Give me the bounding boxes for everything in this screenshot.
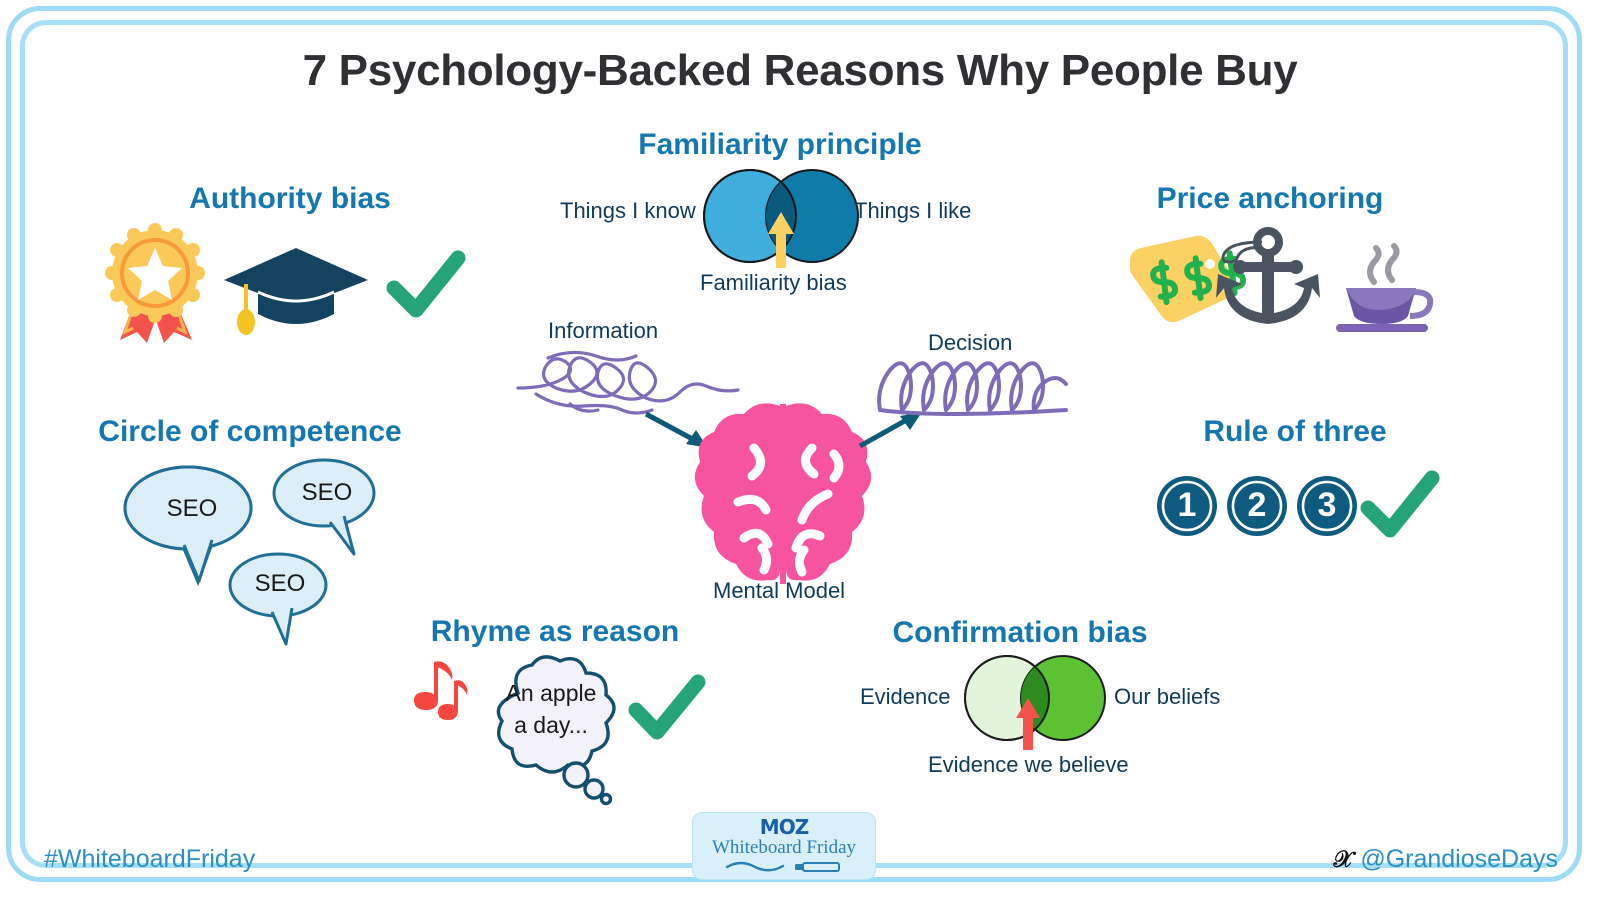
anchor-icon xyxy=(1210,228,1320,332)
social-handle-text: @GrandioseDays xyxy=(1360,845,1558,874)
heading-rule-of-three: Rule of three xyxy=(1095,415,1495,449)
graduation-cap-icon xyxy=(222,246,370,336)
hashtag-label: #WhiteboardFriday xyxy=(44,845,255,874)
rhyme-cloud-line-1: An apple xyxy=(482,680,620,707)
x-logo-icon: 𝒳 xyxy=(1334,847,1354,873)
heading-authority-bias: Authority bias xyxy=(90,182,490,216)
arrow-brain-to-decision xyxy=(860,410,932,452)
moz-whiteboard-friday-badge[interactable]: MOZ Whiteboard Friday xyxy=(692,812,876,880)
rule-of-three-number-3: 3 xyxy=(1296,486,1358,525)
confirmation-right-label: Our beliefs xyxy=(1114,684,1220,710)
page-title: 7 Psychology-Backed Reasons Why People B… xyxy=(0,46,1600,96)
music-notes-icon xyxy=(412,662,474,728)
moz-brand-label: MOZ xyxy=(760,817,808,837)
green-check-icon-authority xyxy=(388,252,464,320)
familiarity-right-label: Things I like xyxy=(854,198,971,224)
seo-speech-bubble-2 xyxy=(272,458,382,558)
marker-squiggle-icon xyxy=(709,860,859,874)
rule-of-three-number-1: 1 xyxy=(1156,486,1218,525)
heading-circle-of-competence: Circle of competence xyxy=(50,415,450,449)
green-check-icon-rule-of-three xyxy=(1362,472,1438,540)
mental-model-caption: Mental Model xyxy=(713,578,845,604)
familiarity-left-label: Things I know xyxy=(560,198,696,224)
heading-rhyme-as-reason: Rhyme as reason xyxy=(355,615,755,649)
heading-price-anchoring: Price anchoring xyxy=(1070,182,1470,216)
infographic-canvas: 7 Psychology-Backed Reasons Why People B… xyxy=(0,0,1600,900)
brain-icon xyxy=(692,398,874,588)
seo-speech-bubble-3 xyxy=(228,552,332,648)
decision-coil-icon xyxy=(876,360,1068,416)
seo-bubble-label-1: SEO xyxy=(122,495,262,523)
confirmation-left-label: Evidence xyxy=(860,684,951,710)
coffee-cup-icon xyxy=(1330,248,1434,332)
rule-of-three-number-2: 2 xyxy=(1226,486,1288,525)
confirmation-callout-arrow xyxy=(1014,698,1042,750)
heading-familiarity-principle: Familiarity principle xyxy=(580,128,980,162)
seo-bubble-label-3: SEO xyxy=(228,570,332,598)
familiarity-callout-label: Familiarity bias xyxy=(700,270,847,296)
mental-model-output-label: Decision xyxy=(928,330,1012,356)
mental-model-input-label: Information xyxy=(548,318,658,344)
green-check-icon-rhyme xyxy=(630,676,704,742)
seo-bubble-label-2: SEO xyxy=(272,479,382,507)
social-handle[interactable]: 𝒳 @GrandioseDays xyxy=(1334,845,1558,874)
heading-confirmation-bias: Confirmation bias xyxy=(820,616,1220,650)
confirmation-callout-label: Evidence we believe xyxy=(928,752,1129,778)
familiarity-bias-arrow xyxy=(766,212,796,268)
moz-subtitle-label: Whiteboard Friday xyxy=(712,838,856,859)
award-medal-icon xyxy=(100,228,210,343)
rhyme-cloud-line-2: a day... xyxy=(482,712,620,739)
